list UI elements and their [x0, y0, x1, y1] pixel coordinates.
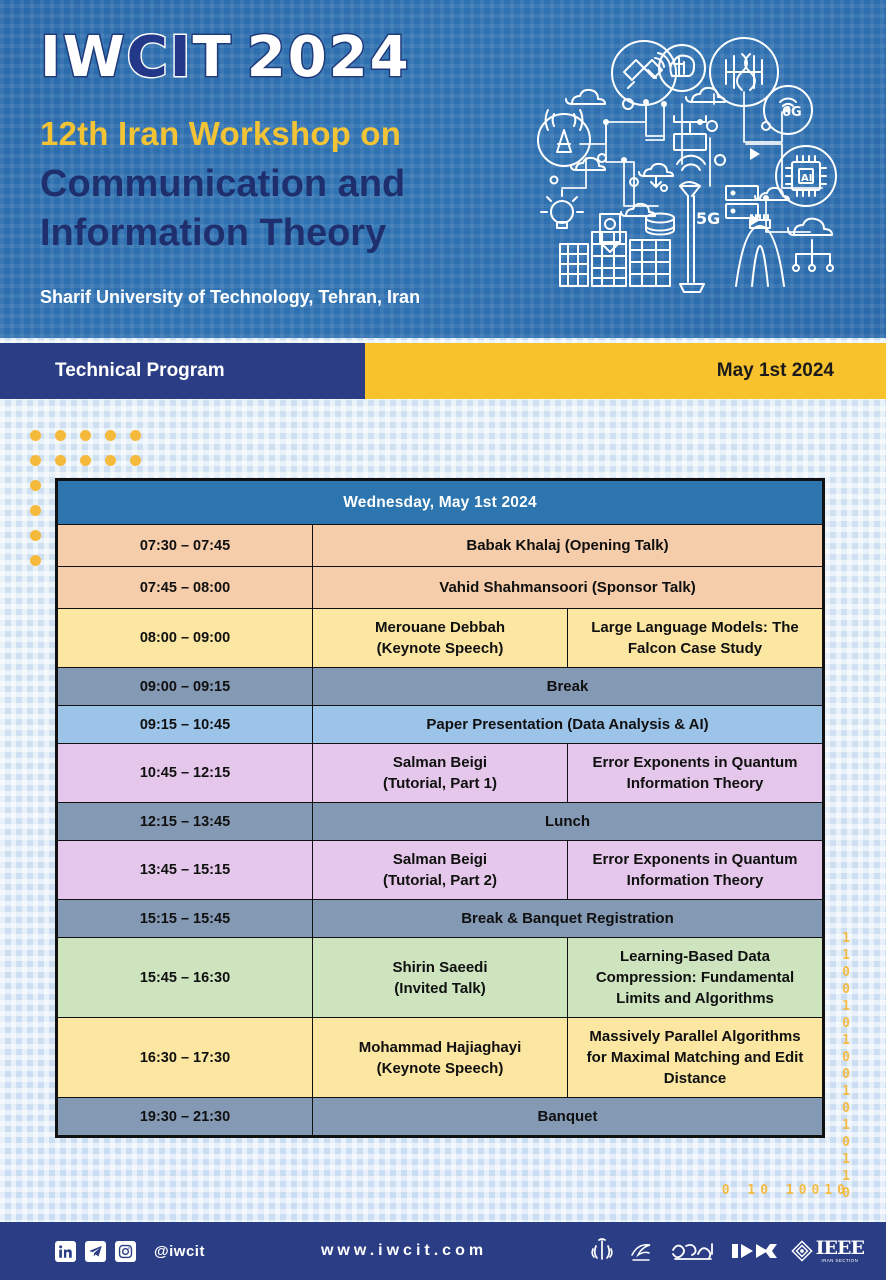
schedule-table: Wednesday, May 1st 2024 07:30 – 07:45 Ba…	[57, 480, 823, 1136]
table-row[interactable]: 07:45 – 08:00 Vahid Shahmansoori (Sponso…	[58, 567, 823, 609]
social-handle: @iwcit	[154, 1243, 205, 1260]
buildings-icon	[560, 214, 670, 286]
cell-time: 10:45 – 12:15	[58, 744, 313, 803]
router-icon	[788, 219, 833, 271]
table-row[interactable]: 09:15 – 10:45 Paper Presentation (Data A…	[58, 706, 823, 744]
table-row[interactable]: 09:00 – 09:15 Break	[58, 668, 823, 706]
ieee-iran-section-logo: IEEE IRAN SECTION	[791, 1236, 864, 1266]
azadi-tower-icon	[736, 226, 784, 286]
cell-time: 16:30 – 17:30	[58, 1018, 313, 1098]
sharif-university-logo	[628, 1236, 656, 1266]
table-row[interactable]: 07:30 – 07:45 Babak Khalaj (Opening Talk…	[58, 525, 823, 567]
decor-binary-column: 1 1 0 0 1 0 1 0 0 1 0 1 0 1 1 0	[842, 930, 850, 1202]
cell-time: 13:45 – 15:15	[58, 841, 313, 900]
cell-time: 12:15 – 13:45	[58, 803, 313, 841]
cell-time: 07:30 – 07:45	[58, 525, 313, 567]
workshop-edition-line: 12th Iran Workshop on	[40, 115, 401, 153]
cell-time: 07:45 – 08:00	[58, 567, 313, 609]
cloud-icon	[566, 90, 605, 104]
lightbulb-icon	[541, 190, 583, 228]
section-banner: Technical Program May 1st 2024	[0, 343, 886, 399]
cell-title: Break	[313, 668, 823, 706]
schedule-table-body: Wednesday, May 1st 2024 07:30 – 07:45 Ba…	[58, 481, 823, 1136]
instagram-icon[interactable]	[115, 1241, 136, 1262]
cell-time: 15:45 – 16:30	[58, 938, 313, 1018]
cell-speaker: Merouane Debbah (Keynote Speech)	[313, 609, 568, 668]
cell-time: 09:00 – 09:15	[58, 668, 313, 706]
iran-emblem-logo	[589, 1236, 615, 1266]
ieee-section-label: IRAN SECTION	[821, 1258, 858, 1263]
banner-technical-program: Technical Program	[0, 343, 365, 399]
ieee-wordmark: IEEE	[816, 1239, 864, 1258]
venue-line: Sharif University of Technology, Tehran,…	[40, 287, 420, 308]
iwcit-logo: IWCIT 2024	[40, 30, 411, 86]
website-url[interactable]: www.iwcit.com	[321, 1242, 487, 1260]
cell-speaker: Salman Beigi (Tutorial, Part 1)	[313, 744, 568, 803]
cell-speaker: Salman Beigi (Tutorial, Part 2)	[313, 841, 568, 900]
cell-time: 19:30 – 21:30	[58, 1098, 313, 1136]
workshop-title: Communication and Information Theory	[40, 160, 405, 258]
cell-time: 09:15 – 10:45	[58, 706, 313, 744]
table-row[interactable]: 19:30 – 21:30 Banquet	[58, 1098, 823, 1136]
poster-footer: @iwcit www.iwcit.com	[0, 1222, 886, 1280]
workshop-title-line1: Communication and	[40, 160, 405, 209]
table-day-header-row: Wednesday, May 1st 2024	[58, 481, 823, 525]
sponsor-logos: IEEE IRAN SECTION	[589, 1236, 864, 1266]
cell-title: Vahid Shahmansoori (Sponsor Talk)	[313, 567, 823, 609]
linkedin-icon[interactable]	[55, 1241, 76, 1262]
server-icon	[726, 186, 758, 218]
table-row[interactable]: 15:15 – 15:45 Break & Banquet Registrati…	[58, 900, 823, 938]
cell-title: Error Exponents in Quantum Information T…	[568, 841, 823, 900]
logo-part-ci: CI	[127, 25, 193, 90]
label-5g: 5G	[696, 209, 720, 228]
label-ai: AI	[801, 173, 812, 184]
table-row[interactable]: 12:15 – 13:45 Lunch	[58, 803, 823, 841]
parman-logo	[669, 1236, 719, 1266]
logo-part-t: T	[193, 25, 233, 90]
social-links: @iwcit	[55, 1241, 205, 1262]
schedule-table-wrapper: Wednesday, May 1st 2024 07:30 – 07:45 Ba…	[55, 478, 825, 1138]
cell-speaker: Shirin Saeedi (Invited Talk)	[313, 938, 568, 1018]
cell-title: Large Language Models: The Falcon Case S…	[568, 609, 823, 668]
cell-title: Lunch	[313, 803, 823, 841]
table-row[interactable]: 10:45 – 12:15 Salman Beigi (Tutorial, Pa…	[58, 744, 823, 803]
table-row[interactable]: 08:00 – 09:00 Merouane Debbah (Keynote S…	[58, 609, 823, 668]
workshop-title-line2: Information Theory	[40, 209, 405, 258]
table-row[interactable]: 13:45 – 15:15 Salman Beigi (Tutorial, Pa…	[58, 841, 823, 900]
cell-speaker: Mohammad Hajiaghayi (Keynote Speech)	[313, 1018, 568, 1098]
cell-title: Massively Parallel Algorithms for Maxima…	[568, 1018, 823, 1098]
cell-time: 08:00 – 09:00	[58, 609, 313, 668]
cell-title: Babak Khalaj (Opening Talk)	[313, 525, 823, 567]
brain-ai-icon	[659, 45, 705, 91]
telegram-icon[interactable]	[85, 1241, 106, 1262]
poster-page: IWCIT 2024 12th Iran Workshop on Communi…	[0, 0, 886, 1280]
poster-header: IWCIT 2024 12th Iran Workshop on Communi…	[0, 0, 886, 338]
milad-tower-icon	[680, 186, 700, 196]
cell-title: Break & Banquet Registration	[313, 900, 823, 938]
banner-date: May 1st 2024	[365, 343, 886, 399]
cell-title: Banquet	[313, 1098, 823, 1136]
cell-title: Learning-Based Data Compression: Fundame…	[568, 938, 823, 1018]
tech-illustration: 5G 6G AI	[514, 18, 874, 318]
logo-year: 2024	[247, 30, 411, 86]
label-6g: 6G	[782, 105, 802, 120]
logo-part-iw: IW	[40, 25, 127, 90]
cell-time: 15:15 – 15:45	[58, 900, 313, 938]
table-row[interactable]: 15:45 – 16:30 Shirin Saeedi (Invited Tal…	[58, 938, 823, 1018]
icc-logo	[732, 1236, 778, 1266]
decor-binary-bottom: 0 10 10010	[722, 1183, 850, 1198]
day-header-cell: Wednesday, May 1st 2024	[58, 481, 823, 525]
table-row[interactable]: 16:30 – 17:30 Mohammad Hajiaghayi (Keyno…	[58, 1018, 823, 1098]
cell-title: Error Exponents in Quantum Information T…	[568, 744, 823, 803]
cell-title: Paper Presentation (Data Analysis & AI)	[313, 706, 823, 744]
